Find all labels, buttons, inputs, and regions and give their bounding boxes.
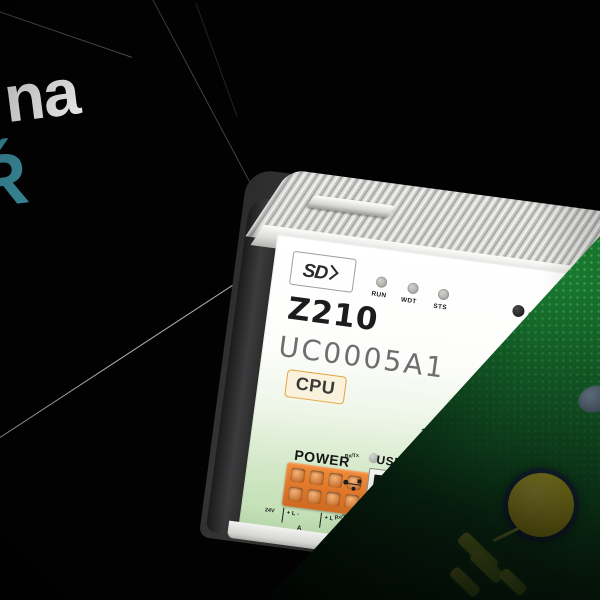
terminal-voltage-label: 24V	[264, 507, 274, 514]
legend-label-10mbit: 10Mbit/s	[516, 448, 547, 461]
run-led-label: RUN	[371, 290, 387, 299]
legend-item-100mbit: 100Mbit/s	[508, 430, 558, 446]
background-hairline-1	[0, 8, 132, 58]
rj45-1-tx-label: Tx	[469, 469, 476, 476]
sts-led-label: STS	[433, 303, 447, 312]
wdt-led-label: WDT	[400, 296, 416, 305]
rj45-1-rx-label: Rx	[430, 462, 438, 469]
usb-label: USB	[376, 453, 404, 470]
device-model-label: Z210	[285, 291, 380, 339]
terminal-group-a-signs: + L -	[286, 510, 299, 518]
reset-label: RESET	[527, 312, 553, 322]
wdt-led	[407, 282, 419, 294]
network-topology-icon	[436, 444, 473, 474]
background-hairline-4	[196, 3, 238, 116]
headline-line-invitation: me Vás na	[0, 16, 406, 163]
ethernet-port-1[interactable]	[420, 470, 478, 522]
usb-activity-label: Rx/Tx	[345, 453, 360, 460]
legend-dot-orange-icon	[502, 445, 513, 456]
cpu-badge: CPU	[284, 369, 347, 405]
sd-icon: SD	[301, 260, 328, 285]
legend-label-100mbit: 100Mbit/s	[522, 432, 557, 445]
status-led-group: RUN WDT STS	[373, 276, 496, 322]
legend-dot-green-icon	[508, 430, 519, 441]
reset-button[interactable]	[512, 304, 525, 317]
run-led	[375, 276, 387, 288]
legend-dot-orange-2-icon	[497, 461, 508, 472]
term-activity-label: Rx/Tx	[334, 514, 349, 521]
promo-canvas: me Vás na BINÁŘ SD RUN WDT STS RESET	[0, 0, 600, 600]
ethernet-standard-label: 100Base-T	[420, 426, 463, 442]
usb-port[interactable]	[364, 468, 413, 515]
sp-led	[484, 500, 496, 512]
rj45-2-rx-label: Rx	[426, 520, 434, 527]
legend-stem-sp	[489, 467, 495, 503]
legend-item-10mbit: 10Mbit/s	[502, 445, 547, 461]
sts-led	[437, 288, 449, 300]
usb-trident-icon	[344, 478, 362, 491]
